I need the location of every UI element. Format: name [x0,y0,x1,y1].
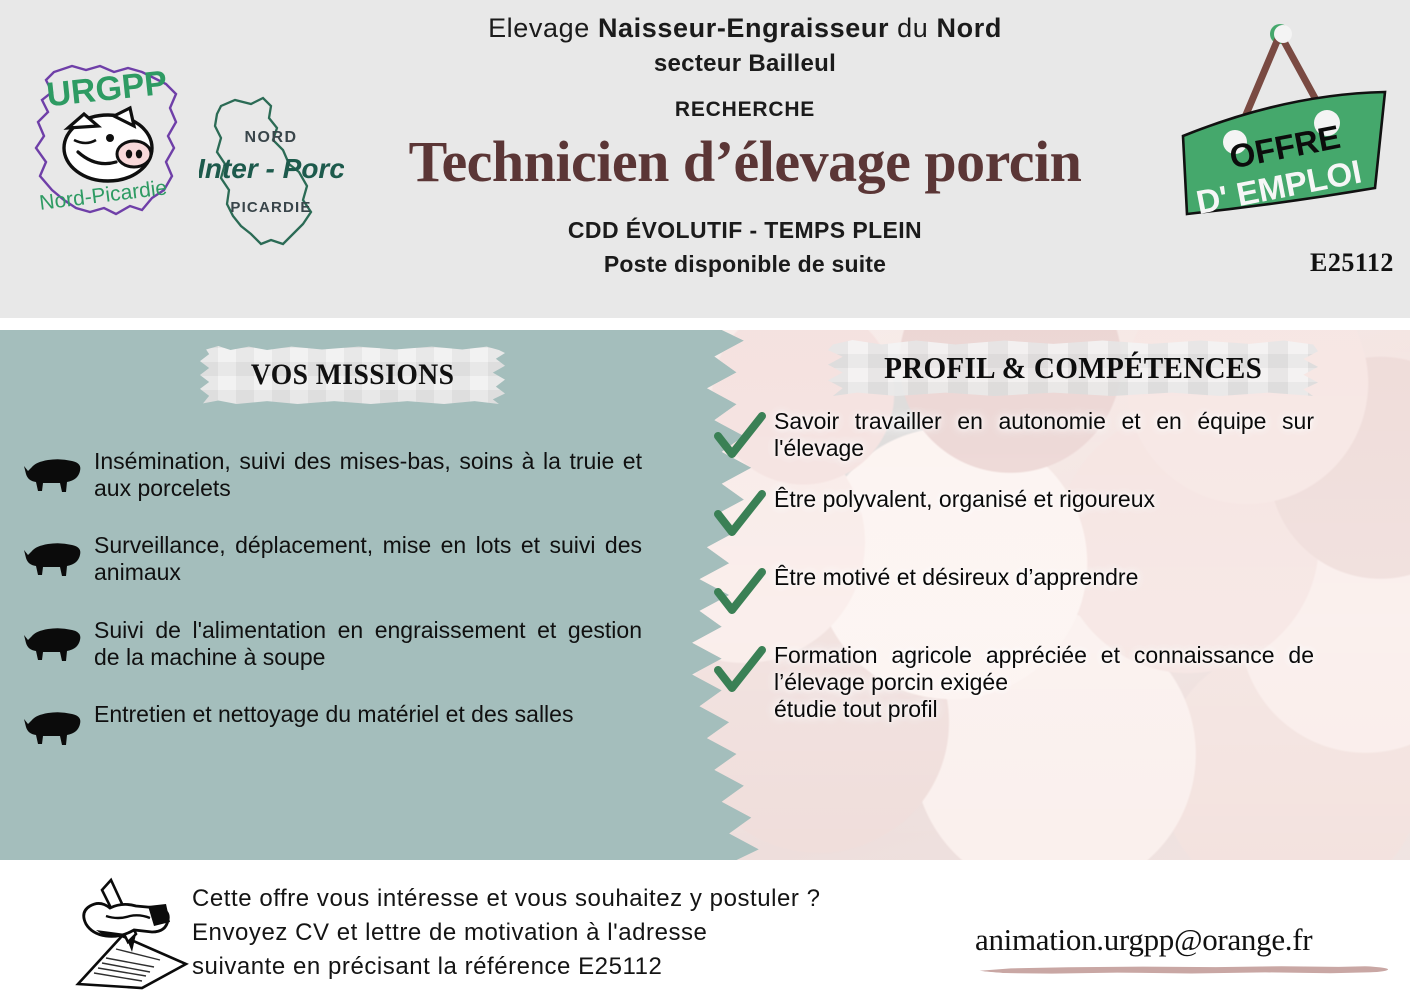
list-item: Insémination, suivi des mises-bas, soins… [22,448,662,502]
check-icon [712,490,768,542]
svg-text:PICARDIE: PICARDIE [230,199,311,216]
pig-silhouette-icon [22,454,84,494]
profile-list: Savoir travailler en autonomie et en équ… [712,408,1410,745]
list-item: Savoir travailler en autonomie et en équ… [712,408,1410,464]
profile-title: PROFIL & COMPÉTENCES [884,350,1262,386]
pig-silhouette-icon [22,538,84,578]
profile-title-tape: PROFIL & COMPÉTENCES [828,340,1318,396]
profile-text: Formation agricole appréciée et connaiss… [774,642,1314,723]
sector-line: secteur Bailleul [350,50,1140,78]
missions-list: Insémination, suivi des mises-bas, soins… [22,448,662,777]
pig-silhouette-icon [22,707,84,747]
reference-code: E25112 [1310,248,1394,278]
urgpp-pig-logo: URGPP Nord-Picardie [24,50,194,225]
missions-title-tape: VOS MISSIONS [200,346,505,404]
check-icon [712,568,768,620]
profile-text: Être motivé et désireux d’apprendre [774,564,1138,591]
pig-silhouette-icon [22,623,84,663]
missions-title: VOS MISSIONS [251,358,455,392]
list-item: Formation agricole appréciée et connaiss… [712,642,1410,723]
profile-text: Être polyvalent, organisé et rigoureux [774,486,1155,513]
content-band: VOS MISSIONS Insémination, suivi des mis… [0,330,1410,860]
logo-group: URGPP Nord-Picardie NORD Int [14,50,354,260]
footer-instructions: Cette offre vous intéresse et vous souha… [192,882,892,984]
list-item: Être polyvalent, organisé et rigoureux [712,486,1410,542]
mission-text: Suivi de l'alimentation en engraissement… [94,617,642,671]
inter-porc-logo: NORD Inter - Porc PICARDIE [199,92,344,250]
list-item: Entretien et nettoyage du matériel et de… [22,701,662,747]
footer-line-1: Cette offre vous intéresse et vous souha… [192,882,892,916]
recherche-label: RECHERCHE [350,98,1140,122]
list-item: Surveillance, déplacement, mise en lots … [22,532,662,586]
missions-column: VOS MISSIONS Insémination, suivi des mis… [0,330,700,860]
header-divider [0,318,1410,330]
company-mid: du [889,13,936,43]
check-icon [712,646,768,698]
header-text-block: Elevage Naisseur-Engraisseur du Nord sec… [350,12,1140,278]
contact-email[interactable]: animation.urgpp@orange.fr [975,922,1395,958]
email-underline-brush [978,964,1388,975]
profile-text-extra: étudie tout profil [774,696,1314,723]
list-item: Être motivé et désireux d’apprendre [712,564,1410,620]
job-offer-poster: URGPP Nord-Picardie NORD Int [0,0,1410,1000]
profile-column: PROFIL & COMPÉTENCES Savoir travailler e… [700,330,1410,860]
mission-text: Surveillance, déplacement, mise en lots … [94,532,642,586]
availability-line: Poste disponible de suite [350,251,1140,278]
company-prefix: Elevage [488,13,598,43]
hanging-sign-icon: OFFRE D' EMPLOI [1175,8,1400,248]
hand-writing-icon [62,872,202,990]
company-bold2: Nord [937,13,1002,43]
poster-footer: Cette offre vous intéresse et vous souha… [0,860,1410,1000]
mission-text: Entretien et nettoyage du matériel et de… [94,701,573,728]
contract-type: CDD ÉVOLUTIF - TEMPS PLEIN [350,217,1140,244]
profile-text-main: Formation agricole appréciée et connaiss… [774,642,1314,695]
mission-text: Insémination, suivi des mises-bas, soins… [94,448,642,502]
svg-text:NORD: NORD [244,129,297,146]
footer-line-2: Envoyez CV et lettre de motivation à l'a… [192,916,892,950]
check-icon [712,412,768,464]
svg-text:URGPP: URGPP [45,64,169,114]
profile-text: Savoir travailler en autonomie et en équ… [774,408,1314,462]
poster-header: URGPP Nord-Picardie NORD Int [0,0,1410,318]
footer-line-3: suivante en précisant la référence E2511… [192,950,892,984]
svg-text:Inter - Porc: Inter - Porc [199,153,344,184]
company-bold: Naisseur-Engraisseur [598,13,889,43]
list-item: Suivi de l'alimentation en engraissement… [22,617,662,671]
company-line: Elevage Naisseur-Engraisseur du Nord [350,12,1140,45]
page-title: Technicien d’élevage porcin [350,132,1140,193]
